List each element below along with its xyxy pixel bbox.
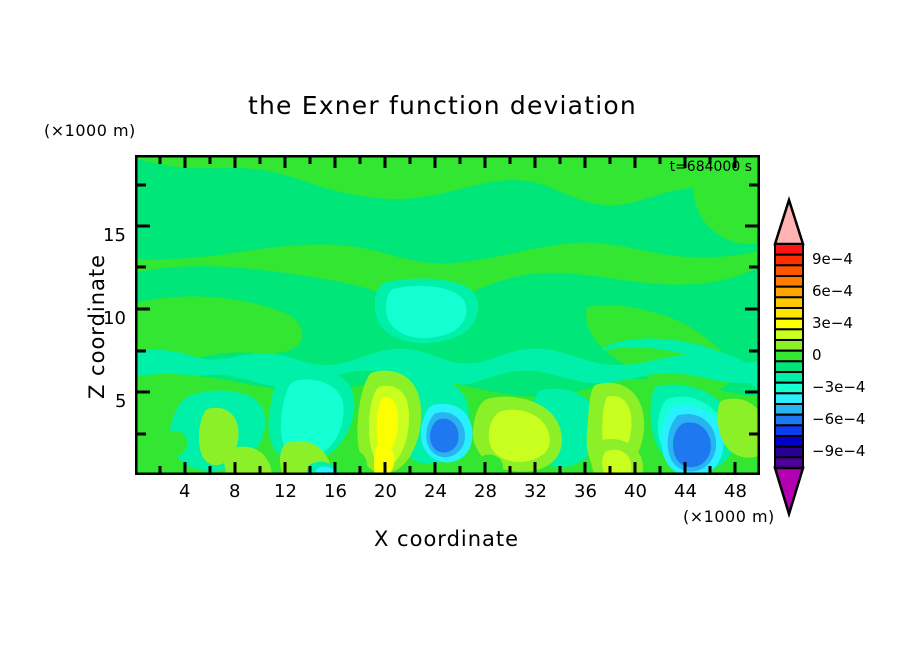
colorbar-band-11 — [775, 361, 803, 372]
time-annotation: t=684000 s — [670, 159, 752, 175]
colorbar-label-0: 0 — [812, 346, 822, 364]
colorbar-band-17 — [775, 425, 803, 436]
x-tick-label-20: 20 — [374, 481, 397, 502]
y-tick-label-5: 5 — [115, 391, 126, 412]
colorbar-band-16 — [775, 415, 803, 426]
contour-region-cyan-pocket-core — [386, 286, 467, 338]
colorbar-under-arrow — [775, 468, 803, 514]
colorbar-band-6 — [775, 308, 803, 319]
colorbar-band-18 — [775, 436, 803, 447]
colorbar-band-4 — [775, 287, 803, 298]
x-tick-label-32: 32 — [524, 481, 547, 502]
colorbar-band-0 — [775, 244, 803, 255]
x-tick-label-4: 4 — [179, 481, 190, 502]
x-tick-label-16: 16 — [324, 481, 347, 502]
y-tick-label-15: 15 — [103, 225, 126, 246]
colorbar-band-14 — [775, 393, 803, 404]
colorbar-band-19 — [775, 447, 803, 458]
contour-region-speckle-a — [164, 431, 187, 456]
x-tick-label-24: 24 — [424, 481, 447, 502]
colorbar-label-m6e-4: −6e−4 — [812, 410, 865, 428]
colorbar-label-m9e-4: −9e−4 — [812, 442, 865, 460]
colorbar-band-9 — [775, 340, 803, 351]
colorbar-band-13 — [775, 383, 803, 394]
contour-plot-panel: t=684000 s — [135, 155, 760, 475]
x-tick-label-12: 12 — [274, 481, 297, 502]
colorbar-band-15 — [775, 404, 803, 415]
x-tick-label-48: 48 — [724, 481, 747, 502]
colorbar-band-10 — [775, 351, 803, 362]
x-tick-label-40: 40 — [624, 481, 647, 502]
colorbar-band-20 — [775, 457, 803, 468]
colorbar-label-m3e-4: −3e−4 — [812, 378, 865, 396]
x-tick-label-44: 44 — [674, 481, 697, 502]
y-axis-title: Z coordinate — [85, 254, 109, 399]
colorbar-band-7 — [775, 319, 803, 330]
colorbar-band-1 — [775, 255, 803, 266]
colorbar-over-arrow — [775, 200, 803, 244]
contour-field — [135, 155, 760, 475]
page-title: the Exner function deviation — [248, 91, 637, 120]
x-axis-unit-label: (×1000 m) — [683, 507, 775, 526]
colorbar-band-5 — [775, 297, 803, 308]
colorbar-band-3 — [775, 276, 803, 287]
x-axis-title: X coordinate — [374, 527, 519, 551]
colorbar-label-3e-4: 3e−4 — [812, 314, 853, 332]
colorbar-band-8 — [775, 329, 803, 340]
y-axis-unit-label: (×1000 m) — [44, 121, 136, 140]
x-tick-label-8: 8 — [229, 481, 240, 502]
x-tick-label-36: 36 — [574, 481, 597, 502]
colorbar-band-2 — [775, 265, 803, 276]
colorbar-label-6e-4: 6e−4 — [812, 282, 853, 300]
colorbar-label-9e-4: 9e−4 — [812, 250, 853, 268]
x-tick-label-28: 28 — [474, 481, 497, 502]
colorbar-band-12 — [775, 372, 803, 383]
